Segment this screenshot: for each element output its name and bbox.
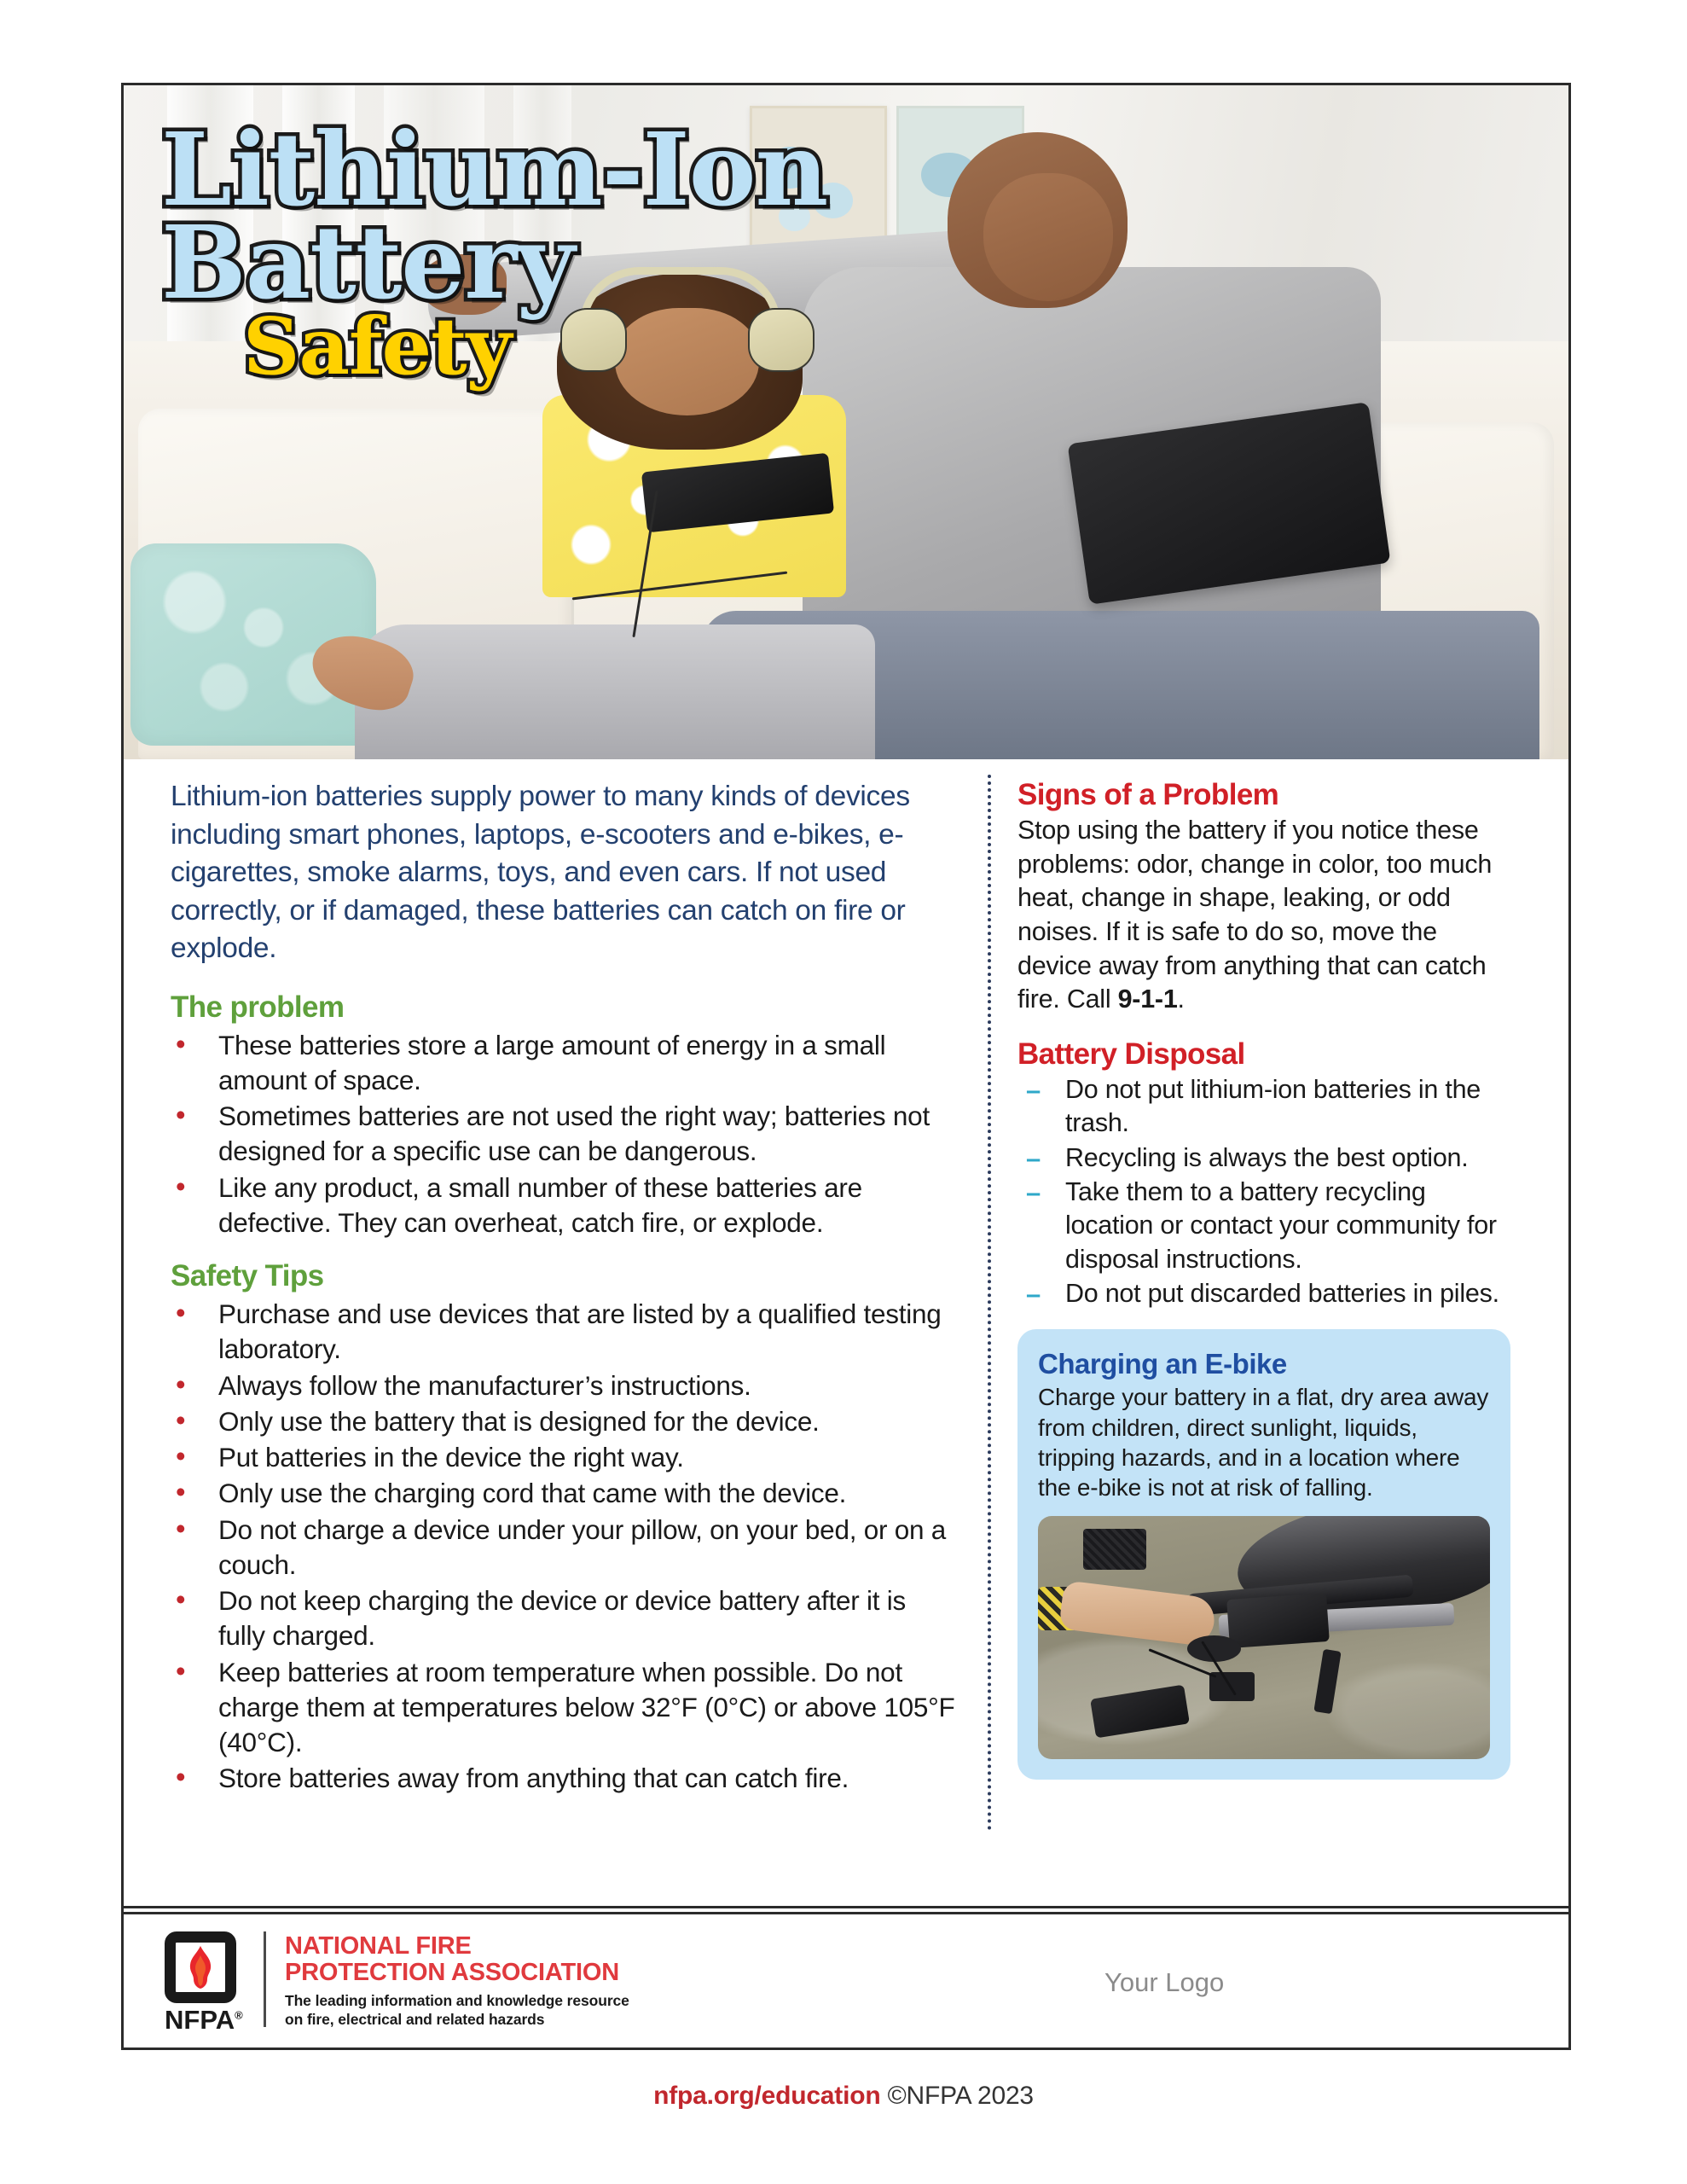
signs-text-after: . <box>1178 985 1185 1014</box>
nfpa-wordmark: NFPA® <box>165 2005 236 2036</box>
ebike-callout-box: Charging an E-bike Charge your battery i… <box>1017 1329 1510 1780</box>
logo-placeholder: Your Logo <box>1104 1967 1224 1998</box>
flyer-sheet: Lithium-Ion Battery Safety Lithium-ion b… <box>121 83 1571 2050</box>
ebike-paragraph: Charge your battery in a flat, dry area … <box>1038 1382 1490 1502</box>
battery-pack <box>1226 1593 1329 1648</box>
flyer-page: Lithium-Ion Battery Safety Lithium-ion b… <box>0 0 1687 2184</box>
list-item: Purchase and use devices that are listed… <box>171 1297 959 1368</box>
logo-divider <box>264 1931 266 2027</box>
org-name-line-2: PROTECTION ASSOCIATION <box>285 1960 629 1986</box>
bike-pedal <box>1209 1672 1255 1701</box>
list-item: Only use the battery that is designed fo… <box>171 1404 959 1439</box>
heading-battery-disposal: Battery Disposal <box>1017 1037 1510 1072</box>
heading-the-problem: The problem <box>171 990 959 1025</box>
nfpa-logo: NFPA® NATIONAL FIRE PROTECTION ASSOCIATI… <box>165 1931 629 2036</box>
ebike-charging-photo <box>1038 1516 1490 1759</box>
bike-accessory <box>1083 1529 1146 1570</box>
child-legs <box>355 624 875 759</box>
left-column: Lithium-ion batteries supply power to ma… <box>171 778 959 1815</box>
safety-tips-list: Purchase and use devices that are listed… <box>171 1297 959 1797</box>
emergency-number: 9-1-1 <box>1118 985 1178 1014</box>
flame-icon <box>183 1945 217 1989</box>
nfpa-square-icon <box>165 1931 236 2003</box>
copyright: ©NFPA 2023 <box>888 2082 1034 2110</box>
column-divider <box>988 775 991 1831</box>
org-name-line-1: NATIONAL FIRE <box>285 1933 629 1960</box>
nfpa-url[interactable]: nfpa.org/education <box>653 2082 880 2110</box>
footer-rule <box>124 1906 1568 1908</box>
list-item: These batteries store a large amount of … <box>171 1028 959 1099</box>
disposal-list: Do not put lithium-ion batteries in the … <box>1017 1073 1510 1310</box>
list-item: Like any product, a small number of thes… <box>171 1170 959 1241</box>
title-lockup: Lithium-Ion Battery Safety <box>161 124 827 383</box>
org-tagline-line-2: on fire, electrical and related hazards <box>285 2011 629 2030</box>
intro-paragraph: Lithium-ion batteries supply power to ma… <box>171 778 959 968</box>
footer: NFPA® NATIONAL FIRE PROTECTION ASSOCIATI… <box>124 1914 1568 2047</box>
list-item: Store batteries away from anything that … <box>171 1761 959 1796</box>
hero-photo: Lithium-Ion Battery Safety <box>124 85 1568 759</box>
signs-text-before: Stop using the battery if you notice the… <box>1017 816 1492 1014</box>
adult-face <box>983 173 1113 301</box>
heading-signs-of-a-problem: Signs of a Problem <box>1017 778 1510 812</box>
list-item: Keep batteries at room temperature when … <box>171 1655 959 1761</box>
list-item: Take them to a battery recycling locatio… <box>1017 1176 1510 1276</box>
heading-charging-an-ebike: Charging an E-bike <box>1038 1348 1490 1380</box>
list-item: Recycling is always the best option. <box>1017 1141 1510 1175</box>
problem-list: These batteries store a large amount of … <box>171 1028 959 1241</box>
list-item: Do not charge a device under your pillow… <box>171 1513 959 1583</box>
right-column: Signs of a Problem Stop using the batter… <box>1017 778 1510 1780</box>
nfpa-wordmark-text: NFPA <box>165 2005 235 2035</box>
org-tagline-line-1: The leading information and knowledge re… <box>285 1992 629 2011</box>
list-item: Do not put lithium-ion batteries in the … <box>1017 1073 1510 1141</box>
signs-paragraph: Stop using the battery if you notice the… <box>1017 814 1510 1017</box>
bottom-url-line: nfpa.org/education ©NFPA 2023 <box>0 2082 1687 2111</box>
title-line-2: Battery <box>161 217 827 310</box>
heading-safety-tips: Safety Tips <box>171 1259 959 1293</box>
org-tagline: The leading information and knowledge re… <box>285 1992 629 2030</box>
list-item: Do not keep charging the device or devic… <box>171 1583 959 1654</box>
content-area: Lithium-ion batteries supply power to ma… <box>124 759 1568 1843</box>
list-item: Do not put discarded batteries in piles. <box>1017 1277 1510 1310</box>
list-item: Only use the charging cord that came wit… <box>171 1476 959 1511</box>
list-item: Always follow the manufacturer’s instruc… <box>171 1368 959 1403</box>
nfpa-mark: NFPA® <box>165 1931 246 2036</box>
nfpa-text-block: NATIONAL FIRE PROTECTION ASSOCIATION The… <box>285 1931 629 2029</box>
list-item: Sometimes batteries are not used the rig… <box>171 1099 959 1170</box>
list-item: Put batteries in the device the right wa… <box>171 1440 959 1475</box>
